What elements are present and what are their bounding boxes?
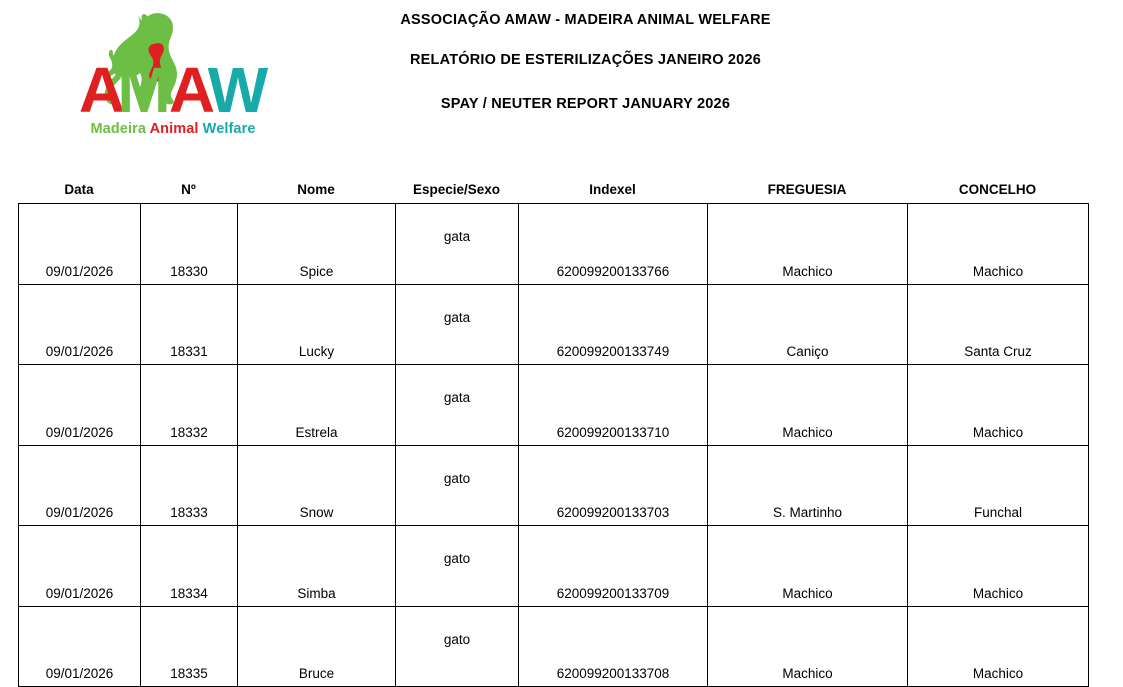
cell-concelho: Machico [908,204,1089,285]
column-header-especie: Especie/Sexo [395,182,518,197]
cell-especie: gata [396,284,519,365]
sterilization-records-table: 09/01/202618330Spicegata620099200133766M… [18,203,1089,687]
table-row: 09/01/202618335Brucegato620099200133708M… [19,606,1089,687]
cell-numero: 18334 [141,526,238,607]
cell-concelho: Santa Cruz [908,284,1089,365]
logo-tagline: Madeira Animal Welfare [78,121,268,137]
cell-especie: gato [396,606,519,687]
cell-data: 09/01/2026 [19,445,141,526]
cell-indexel: 620099200133708 [519,606,708,687]
logo-tagline-word-animal: Animal [150,121,199,137]
cell-concelho: Machico [908,526,1089,607]
cell-nome: Simba [238,526,396,607]
cell-freguesia: Machico [708,204,908,285]
table-row: 09/01/202618333Snowgato620099200133703S.… [19,445,1089,526]
table-header-row: Data Nº Nome Especie/Sexo Indexel FREGUE… [0,182,1123,202]
cell-numero: 18331 [141,284,238,365]
cell-especie: gato [396,445,519,526]
logo-tagline-word-madeira: Madeira [90,121,146,137]
cell-indexel: 620099200133709 [519,526,708,607]
column-header-numero: Nº [140,182,237,197]
cell-data: 09/01/2026 [19,284,141,365]
cell-data: 09/01/2026 [19,204,141,285]
cell-nome: Spice [238,204,396,285]
cell-numero: 18333 [141,445,238,526]
document-title-report-en: SPAY / NEUTER REPORT JANUARY 2026 [0,96,1123,112]
column-header-concelho: CONCELHO [907,182,1088,197]
logo-tagline-word-welfare: Welfare [203,121,256,137]
cell-freguesia: Machico [708,606,908,687]
amaw-logo: A M A W Madeira Animal Welfare [78,8,268,144]
cell-especie: gata [396,365,519,446]
cell-data: 09/01/2026 [19,606,141,687]
cell-freguesia: Caniço [708,284,908,365]
cell-indexel: 620099200133710 [519,365,708,446]
cell-especie: gato [396,526,519,607]
column-header-data: Data [18,182,140,197]
cell-numero: 18330 [141,204,238,285]
cell-indexel: 620099200133703 [519,445,708,526]
cell-nome: Bruce [238,606,396,687]
table-row: 09/01/202618334Simbagato620099200133709M… [19,526,1089,607]
cell-especie: gata [396,204,519,285]
cell-freguesia: Machico [708,365,908,446]
cell-data: 09/01/2026 [19,365,141,446]
cell-concelho: Machico [908,606,1089,687]
document-title-association: ASSOCIAÇÃO AMAW - MADEIRA ANIMAL WELFARE [0,12,1123,28]
column-header-nome: Nome [237,182,395,197]
column-header-freguesia: FREGUESIA [707,182,907,197]
cell-numero: 18332 [141,365,238,446]
cell-indexel: 620099200133766 [519,204,708,285]
cell-nome: Lucky [238,284,396,365]
document-title-report-pt: RELATÓRIO DE ESTERILIZAÇÕES JANEIRO 2026 [0,52,1123,68]
cell-numero: 18335 [141,606,238,687]
cell-indexel: 620099200133749 [519,284,708,365]
cell-freguesia: S. Martinho [708,445,908,526]
table-row: 09/01/202618331Luckygata620099200133749C… [19,284,1089,365]
cell-concelho: Funchal [908,445,1089,526]
cell-nome: Snow [238,445,396,526]
cell-nome: Estrela [238,365,396,446]
table-row: 09/01/202618330Spicegata620099200133766M… [19,204,1089,285]
column-header-indexel: Indexel [518,182,707,197]
cell-concelho: Machico [908,365,1089,446]
cell-freguesia: Machico [708,526,908,607]
table-row: 09/01/202618332Estrelagata62009920013371… [19,365,1089,446]
cell-data: 09/01/2026 [19,526,141,607]
